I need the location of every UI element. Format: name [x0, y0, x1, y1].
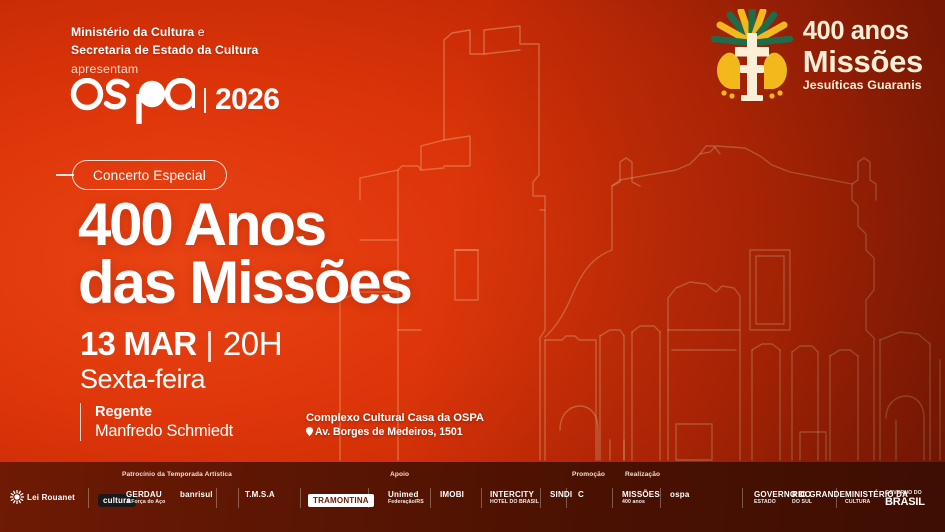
sponsor-logo-text: GERDAU — [126, 490, 165, 499]
missoes-line-1: 400 anos — [803, 19, 923, 45]
ospa-2026-lockup: 2026 — [69, 78, 279, 124]
sponsor-logo-text: banrisul — [180, 490, 213, 499]
sponsor-logo-tmsa[interactable]: T.M.S.A — [245, 490, 275, 499]
sponsor-logo-subtext: A Força do Aço — [126, 499, 165, 505]
missoes-line-3: Jesuíticas Guaranis — [803, 79, 923, 91]
sponsor-logo-missoes-400-small[interactable]: MISSÕES400 anos — [622, 490, 660, 505]
sponsor-divider — [430, 488, 431, 508]
ministry-conjunction: e — [194, 25, 204, 39]
sponsor-logo-text: SINDI — [550, 490, 572, 499]
missoes-wordmark: 400 anos Missões Jesuíticas Guaranis — [803, 19, 923, 91]
conductor-block: Regente Manfredo Schmiedt — [80, 403, 233, 441]
venue-address-row: Av. Borges de Medeiros, 1501 — [306, 425, 484, 439]
sponsor-divider — [612, 488, 613, 508]
title-line-2: das Missões — [78, 254, 411, 312]
conductor-name: Manfredo Schmiedt — [95, 421, 233, 441]
event-hour: 20H — [223, 325, 282, 363]
apresentam-label: apresentam — [71, 62, 138, 76]
event-date-block: 13 MAR | 20H Sexta-feira — [80, 325, 282, 395]
ospa-divider — [204, 88, 206, 113]
date-line: 13 MAR | 20H — [80, 325, 282, 363]
ospa-wordmark-icon — [69, 78, 195, 124]
location-pin-icon — [306, 427, 313, 436]
sponsor-divider — [742, 488, 743, 508]
sponsor-logo-banrisul[interactable]: banrisul — [180, 490, 213, 499]
sponsor-logo-text: ospa — [670, 490, 689, 499]
sponsor-logo-text: C — [578, 490, 584, 499]
sponsor-logo-text: IMOBI — [440, 490, 464, 499]
sponsor-logo-subtext: Federação/RS — [388, 499, 424, 505]
missoes-line-2: Missões — [803, 46, 923, 77]
ospa-year: 2026 — [215, 85, 279, 115]
sponsor-divider — [481, 488, 482, 508]
sponsor-logo-gerdau[interactable]: GERDAUA Força do Aço — [126, 490, 165, 505]
page-title: 400 Anos das Missões — [78, 196, 411, 312]
sponsor-logos: Lei RouanetculturaGERDAUA Força do Açoba… — [0, 462, 945, 532]
sponsor-logo-subtext: GOVERNO DO — [885, 490, 925, 496]
sponsor-bar: Patrocínio da Temporada ArtísticaApoioPr… — [0, 462, 945, 532]
sun-icon — [10, 490, 24, 504]
event-day: 13 MAR — [80, 325, 196, 363]
sponsor-logo-promocao-c[interactable]: C — [578, 490, 584, 499]
sponsor-logo-imobi[interactable]: IMOBI — [440, 490, 464, 499]
sponsor-logo-lei-rouanet[interactable]: Lei Rouanet — [10, 490, 75, 504]
sponsor-logo-text: TRAMONTINA — [308, 494, 374, 507]
ministry-line-1: Ministério da Cultura e — [71, 24, 258, 42]
event-weekday: Sexta-feira — [80, 364, 282, 395]
sponsor-logo-text: Unimed — [388, 490, 424, 499]
sponsor-divider — [88, 488, 89, 508]
sponsor-logo-unimed[interactable]: UnimedFederação/RS — [388, 490, 424, 505]
sponsor-divider — [216, 488, 217, 508]
sponsor-logo-text: T.M.S.A — [245, 490, 275, 499]
sponsor-logo-tramontina[interactable]: TRAMONTINA — [308, 490, 374, 508]
sponsor-logo-text: BRASIL — [885, 496, 925, 508]
sponsor-logo-text: RIO GRANDE — [792, 490, 845, 499]
sponsor-divider — [238, 488, 239, 508]
venue-name: Complexo Cultural Casa da OSPA — [306, 411, 484, 425]
badge-label: Concerto Especial — [93, 168, 206, 183]
sponsor-logo-subtext: DO SUL — [792, 499, 845, 505]
sponsor-logo-ospa-small[interactable]: ospa — [670, 490, 689, 499]
sponsor-logo-rio-grande-do-sul[interactable]: RIO GRANDEDO SUL — [792, 490, 845, 505]
sponsor-logo-subtext: HOTEL DO BRASIL — [490, 499, 539, 505]
date-separator: | — [205, 325, 214, 363]
sponsor-logo-sinduscon[interactable]: SINDI — [550, 490, 572, 499]
concerto-especial-badge: Concerto Especial — [72, 160, 227, 190]
conductor-role: Regente — [95, 403, 233, 421]
ministry-name: Ministério da Cultura — [71, 25, 194, 39]
missoes-400-logo: 400 anos Missões Jesuíticas Guaranis — [710, 9, 923, 101]
sponsor-divider — [660, 488, 661, 508]
sponsor-logo-text: MISSÕES — [622, 490, 660, 499]
sponsor-logo-governo-brasil[interactable]: GOVERNO DOBRASIL — [885, 490, 925, 508]
sponsor-divider — [540, 488, 541, 508]
cross-with-hands-and-feathers-icon — [710, 9, 794, 101]
sponsor-logo-text: Lei Rouanet — [27, 493, 75, 502]
poster-canvas: Ministério da Cultura e Secretaria de Es… — [0, 0, 945, 532]
sponsor-logo-text: INTERCITY — [490, 490, 539, 499]
venue-address: Av. Borges de Medeiros, 1501 — [315, 426, 463, 438]
title-line-1: 400 Anos — [78, 196, 411, 254]
sponsor-logo-subtext: 400 anos — [622, 499, 660, 505]
venue-block: Complexo Cultural Casa da OSPA Av. Borge… — [306, 411, 484, 439]
ministry-credits: Ministério da Cultura e Secretaria de Es… — [71, 24, 258, 59]
secretariat-name: Secretaria de Estado da Cultura — [71, 42, 258, 60]
sponsor-logo-intercity[interactable]: INTERCITYHOTEL DO BRASIL — [490, 490, 539, 505]
sponsor-divider — [300, 488, 301, 508]
